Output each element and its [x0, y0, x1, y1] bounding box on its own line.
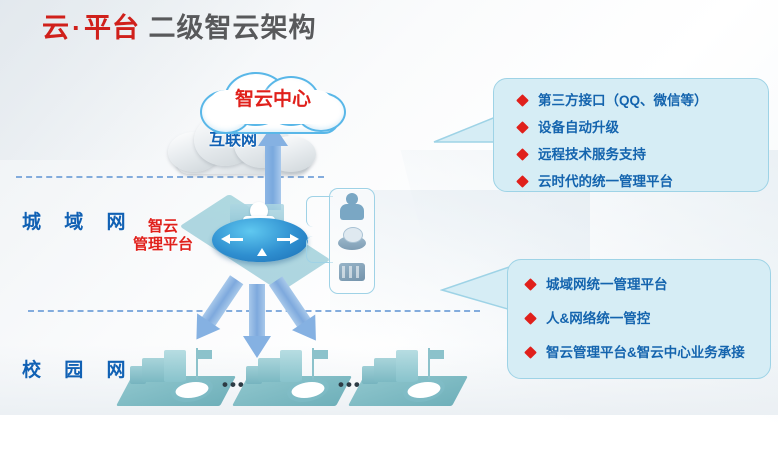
callout-bottom-list: 城域网统一管理平台 人&网络统一管控 智云管理平台&智云中心业务承接 — [508, 260, 770, 361]
callout-top-item-label: 设备自动升级 — [538, 120, 619, 135]
cloud-disc-icon — [336, 224, 368, 254]
callout-bottom-item: 智云管理平台&智云中心业务承接 — [520, 345, 770, 361]
callout-top-item: 远程技术服务支持 — [512, 147, 768, 163]
diamond-bullet-icon — [524, 346, 537, 359]
zone-label-metro: 城 域 网 — [22, 207, 135, 234]
title-brand-dot: · — [70, 13, 84, 43]
diamond-bullet-icon — [516, 121, 529, 134]
callout-top-item-label: 云时代的统一管理平台 — [538, 174, 673, 189]
diamond-bullet-icon — [516, 175, 529, 188]
callout-bottom: 城域网统一管理平台 人&网络统一管控 智云管理平台&智云中心业务承接 — [507, 259, 771, 379]
diamond-bullet-icon — [516, 94, 529, 107]
callout-top-item: 云时代的统一管理平台 — [512, 174, 768, 190]
campus-node-icon — [240, 348, 350, 410]
diamond-bullet-icon — [516, 148, 529, 161]
callout-top-list: 第三方接口（QQ、微信等） 设备自动升级 远程技术服务支持 云时代的统一管理平台 — [494, 79, 768, 190]
person-icon — [336, 192, 368, 222]
title-brand-first: 云 — [42, 13, 70, 43]
diagram-canvas: 云·平台 二级智云架构 城 域 网 校 园 网 互联网 智云中心 — [0, 0, 778, 415]
title-brand-second: 平台 — [84, 13, 140, 43]
page-title: 云·平台 二级智云架构 — [42, 6, 317, 45]
callout-top-item: 设备自动升级 — [512, 120, 768, 136]
diamond-bullet-icon — [524, 278, 537, 291]
callout-top-item: 第三方接口（QQ、微信等） — [512, 93, 768, 109]
campus-node-icon — [124, 348, 234, 410]
callout-bottom-item: 人&网络统一管控 — [520, 311, 770, 327]
diamond-bullet-icon — [524, 312, 537, 325]
callout-bottom-item-label: 智云管理平台&智云中心业务承接 — [546, 345, 745, 360]
zhiyun-center-label: 智云中心 — [214, 84, 332, 111]
callout-top-item-label: 第三方接口（QQ、微信等） — [538, 93, 708, 108]
callout-bottom-item-label: 城域网统一管理平台 — [546, 277, 668, 292]
title-subtitle: 二级智云架构 — [149, 13, 317, 43]
callout-top: 第三方接口（QQ、微信等） 设备自动升级 远程技术服务支持 云时代的统一管理平台 — [493, 78, 769, 192]
callout-top-item-label: 远程技术服务支持 — [538, 147, 646, 162]
callout-bottom-item-label: 人&网络统一管控 — [546, 311, 650, 326]
campus-node-icon — [356, 348, 466, 410]
callout-bottom-item: 城域网统一管理平台 — [520, 277, 770, 293]
core-platform-label-line1: 智云 — [148, 218, 178, 235]
zone-label-campus: 校 园 网 — [22, 355, 135, 382]
core-router-disc-icon — [212, 218, 308, 262]
